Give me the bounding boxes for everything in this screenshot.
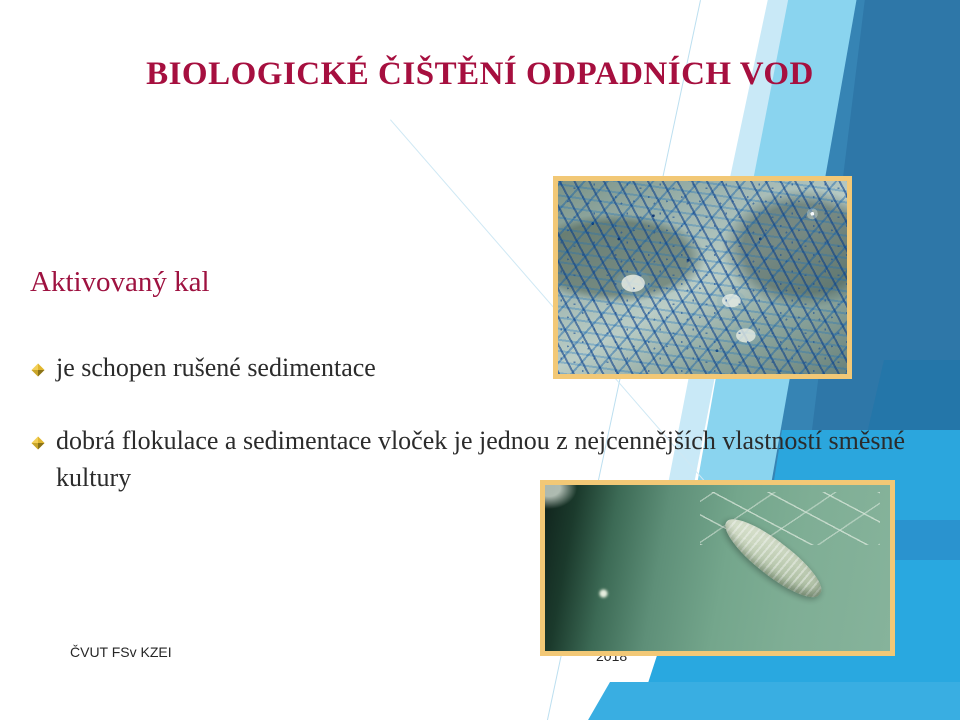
slide-title: BIOLOGICKÉ ČIŠTĚNÍ ODPADNÍCH VOD bbox=[0, 56, 960, 93]
list-item-text: dobrá flokulace a sedimentace vloček je … bbox=[56, 423, 926, 497]
list-item-text: je schopen rušené sedimentace bbox=[56, 350, 926, 387]
list-item: je schopen rušené sedimentace bbox=[30, 350, 930, 387]
activated-sludge-micrograph bbox=[553, 176, 852, 379]
bullet-list: je schopen rušené sedimentace dobrá flok… bbox=[30, 350, 930, 533]
micrograph-texture-overlay bbox=[558, 181, 847, 374]
footer-institution: ČVUT FSv KZEI bbox=[70, 644, 172, 660]
list-item: dobrá flokulace a sedimentace vloček je … bbox=[30, 423, 930, 497]
slide-subheading: Aktivovaný kal bbox=[30, 266, 210, 299]
micrograph-bright-spot bbox=[597, 588, 610, 599]
background-wedge-light-blue-bottom bbox=[558, 682, 960, 720]
gold-diamond-bullet-icon bbox=[30, 435, 56, 456]
gold-diamond-bullet-icon bbox=[30, 362, 56, 383]
presentation-slide: BIOLOGICKÉ ČIŠTĚNÍ ODPADNÍCH VOD Aktivov… bbox=[0, 0, 960, 720]
